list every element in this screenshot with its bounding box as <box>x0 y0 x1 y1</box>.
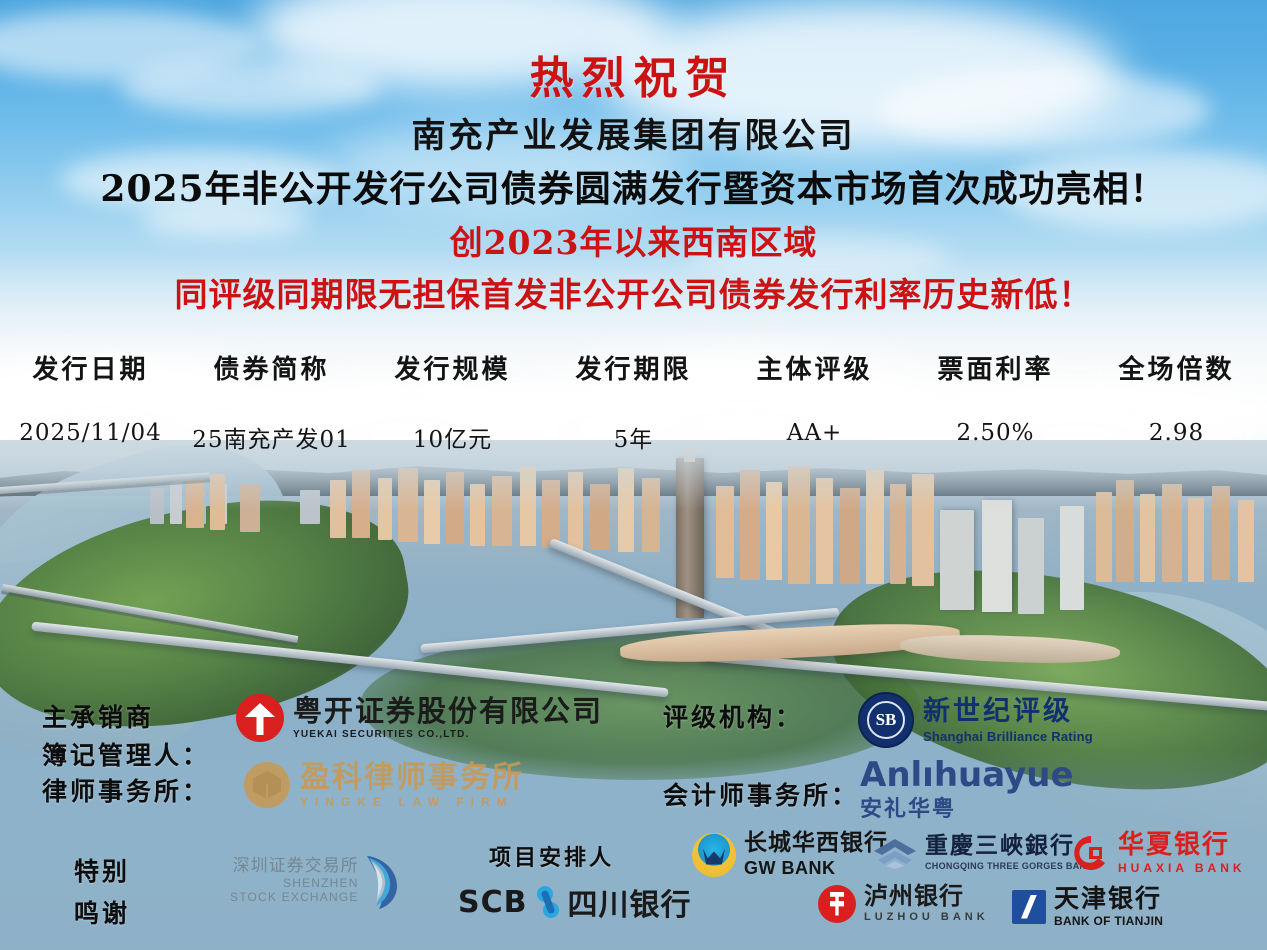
lawyer-label: 律师事务所： <box>42 772 210 808</box>
table-header-cell: 发行日期 <box>0 345 181 386</box>
table-cell: 2025/11/04 <box>0 420 181 454</box>
table-header-cell: 发行期限 <box>543 345 724 386</box>
accountant-label: 会计师事务所： <box>663 776 859 812</box>
yuekai-name-cn: 粤开证券股份有限公司 <box>293 697 603 726</box>
gw-bank-logo: 长城华西银行 GW BANK <box>692 832 888 877</box>
yingke-cube-icon <box>244 762 290 808</box>
main-headline: 2025年非公开发行公司债券圆满发行暨资本市场首次成功亮相！ <box>0 160 1267 212</box>
szse-name-en-1: SHENZHEN <box>230 877 359 891</box>
luzhou-name-en: LUZHOU BANK <box>864 912 989 923</box>
table-row: 2025/11/04 25南充产发01 10亿元 5年 AA+ 2.50% 2.… <box>0 420 1267 454</box>
table-header-cell: 全场倍数 <box>1086 345 1267 386</box>
tianjin-mark-icon <box>1012 890 1046 924</box>
table-header-cell: 票面利率 <box>905 345 1086 386</box>
szse-name-en-2: STOCK EXCHANGE <box>230 891 359 905</box>
brilliance-monogram: SB <box>860 710 912 730</box>
record-line-1: 创2023年以来西南区域 <box>0 216 1267 264</box>
table-cell: 2.50% <box>905 420 1086 454</box>
scb-name-en: SCB <box>458 885 528 920</box>
underwriter-label-line2: 簿记管理人： <box>42 736 210 772</box>
szse-flame-icon <box>363 852 401 910</box>
huaxia-mark-icon <box>1072 834 1110 872</box>
yuekai-name-en: YUEKAI SECURITIES CO.,LTD. <box>293 730 603 740</box>
brilliance-name-cn: 新世纪评级 <box>923 698 1093 725</box>
yingke-law-firm-logo: 盈科律师事务所 YINGKE LAW FIRM <box>244 762 524 808</box>
table-header-cell: 发行规模 <box>362 345 543 386</box>
company-name: 南充产业发展集团有限公司 <box>0 108 1267 157</box>
huaxia-name-en: HUAXIA BANK <box>1118 862 1246 874</box>
brilliance-name-en: Shanghai Brilliance Rating <box>923 730 1093 743</box>
shenzhen-stock-exchange-logo: 深圳证券交易所 SHENZHEN STOCK EXCHANGE <box>230 852 401 910</box>
luzhou-mark-icon <box>818 885 856 923</box>
table-header-cell: 主体评级 <box>724 345 905 386</box>
congrats-title: 热烈祝贺 <box>0 42 1267 106</box>
anlihuayue-logo: Anlıhuayue 安礼华粤 <box>860 758 1074 821</box>
rating-agency-label: 评级机构： <box>663 698 803 734</box>
huaxia-name-cn: 华夏银行 <box>1118 832 1246 858</box>
cqtg-name-cn: 重慶三峽銀行 <box>925 834 1093 857</box>
table-header-row: 发行日期 债券简称 发行规模 发行期限 主体评级 票面利率 全场倍数 <box>0 345 1267 386</box>
tianjin-name-cn: 天津银行 <box>1054 886 1163 911</box>
luzhou-bank-logo: 泸州银行 LUZHOU BANK <box>818 884 989 923</box>
table-cell: 10亿元 <box>362 420 543 454</box>
anlihuayue-name-cn: 安礼华粤 <box>860 799 1074 821</box>
scb-mark-icon <box>535 885 561 919</box>
brilliance-seal-icon: SB <box>858 692 914 748</box>
bank-of-tianjin-logo: 天津银行 BANK OF TIANJIN <box>1012 886 1163 927</box>
cqtg-name-en: CHONGQING THREE GORGES BANK <box>925 862 1093 871</box>
scb-name-cn: 四川银行 <box>568 880 692 924</box>
gw-bank-mark-icon <box>692 833 736 877</box>
tianjin-name-en: BANK OF TIANJIN <box>1054 915 1163 927</box>
table-header-cell: 债券简称 <box>181 345 362 386</box>
record-line-2: 同评级同期限无担保首发非公开公司债券发行利率历史新低！ <box>0 268 1267 316</box>
table-cell: 25南充产发01 <box>181 420 362 454</box>
yuekai-mark-icon <box>236 694 284 742</box>
luzhou-name-cn: 泸州银行 <box>864 884 989 908</box>
gw-bank-name-cn: 长城华西银行 <box>744 832 888 855</box>
sichuan-bank-logo: SCB 四川银行 <box>458 880 692 924</box>
table-cell: 5年 <box>543 420 724 454</box>
underwriter-label-line1: 主承销商 <box>42 698 154 734</box>
thanks-label-line2: 鸣谢 <box>74 894 130 930</box>
szse-name-cn: 深圳证券交易所 <box>230 857 359 877</box>
bond-info-table: 发行日期 债券简称 发行规模 发行期限 主体评级 票面利率 全场倍数 2025/… <box>0 345 1267 454</box>
chongqing-three-gorges-bank-logo: 重慶三峽銀行 CHONGQING THREE GORGES BANK <box>872 834 1093 871</box>
table-cell: AA+ <box>724 420 905 454</box>
anlihuayue-name-en: Anlıhuayue <box>860 758 1074 792</box>
thanks-label-line1: 特别 <box>74 852 130 888</box>
gw-bank-name-en: GW BANK <box>744 859 888 877</box>
yingke-name-en: YINGKE LAW FIRM <box>300 796 524 808</box>
table-cell: 2.98 <box>1086 420 1267 454</box>
yuekai-securities-logo: 粤开证券股份有限公司 YUEKAI SECURITIES CO.,LTD. <box>236 694 603 742</box>
huaxia-bank-logo: 华夏银行 HUAXIA BANK <box>1072 832 1246 874</box>
cqtg-mark-icon <box>872 837 918 869</box>
shanghai-brilliance-rating-logo: SB 新世纪评级 Shanghai Brilliance Rating <box>858 692 1093 748</box>
congratulation-poster: 热烈祝贺 南充产业发展集团有限公司 2025年非公开发行公司债券圆满发行暨资本市… <box>0 0 1267 950</box>
yingke-name-cn: 盈科律师事务所 <box>300 763 524 793</box>
arranger-label: 项目安排人 <box>489 840 614 872</box>
